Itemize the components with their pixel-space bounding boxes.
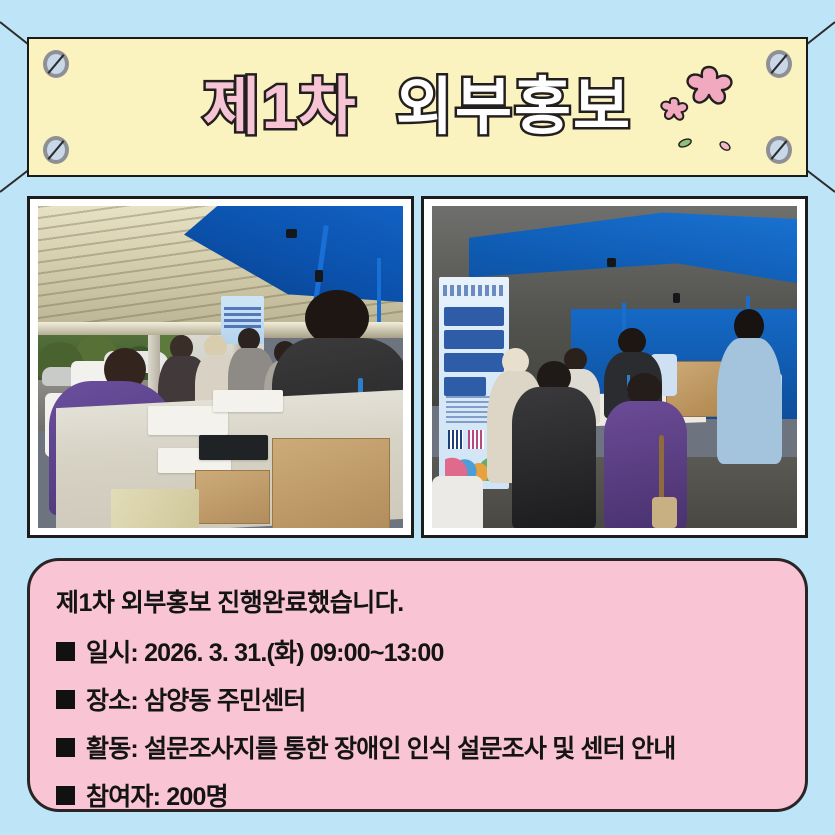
tent-clamp bbox=[286, 229, 297, 239]
poster-root: 제1차 외부홍보 bbox=[0, 0, 835, 835]
tent-clamp bbox=[607, 258, 616, 268]
qr-code bbox=[448, 430, 463, 449]
standee-headline-line bbox=[444, 307, 504, 326]
info-row-date: 일시: 2026. 3. 31.(화) 09:00~13:00 bbox=[56, 633, 779, 669]
info-panel: 제1차 외부홍보 진행완료했습니다. 일시: 2026. 3. 31.(화) 0… bbox=[27, 558, 808, 812]
title-segment-pink: 제1차 bbox=[203, 73, 358, 142]
square-bullet-icon bbox=[56, 738, 75, 757]
info-row-location: 장소: 삼양동 주민센터 bbox=[56, 681, 779, 717]
photo-right bbox=[421, 196, 808, 538]
shoulder-bag bbox=[652, 497, 677, 528]
info-row-activity: 활동: 설문조사지를 통한 장애인 인식 설문조사 및 센터 안내 bbox=[56, 729, 779, 765]
standee-headline-line bbox=[444, 377, 486, 396]
photo-left bbox=[27, 196, 414, 538]
plastic-chair bbox=[432, 476, 483, 528]
info-row-participants-text: 참여자: 200명 bbox=[86, 777, 228, 813]
info-row-participants: 참여자: 200명 bbox=[56, 777, 779, 813]
photo-right-canvas bbox=[432, 206, 797, 528]
tent-clamp bbox=[673, 293, 680, 303]
shoulder-bag-strap bbox=[659, 435, 664, 503]
info-row-date-text: 일시: 2026. 3. 31.(화) 09:00~13:00 bbox=[86, 633, 444, 669]
qr-code bbox=[468, 430, 483, 449]
petal-icon bbox=[717, 139, 733, 153]
promotional-leaflet bbox=[111, 489, 199, 528]
cardboard-box bbox=[272, 438, 391, 528]
participant-black-coat bbox=[512, 361, 596, 528]
leaf-icon bbox=[677, 137, 693, 149]
title-segment-white: 외부홍보 bbox=[396, 73, 632, 142]
participant-purple-coat bbox=[604, 373, 688, 528]
square-bullet-icon bbox=[56, 786, 75, 805]
photo-gallery bbox=[27, 196, 808, 538]
info-row-activity-text: 활동: 설문조사지를 통한 장애인 인식 설문조사 및 센터 안내 bbox=[86, 729, 676, 765]
standee-logo bbox=[443, 285, 504, 296]
square-bullet-icon bbox=[56, 690, 75, 709]
photo-left-canvas bbox=[38, 206, 403, 528]
header-banner: 제1차 외부홍보 bbox=[27, 37, 808, 177]
tent-clamp bbox=[315, 270, 322, 281]
cardboard-box bbox=[195, 470, 270, 524]
clipboard bbox=[199, 435, 268, 461]
square-bullet-icon bbox=[56, 642, 75, 661]
survey-form bbox=[213, 390, 282, 413]
standee-headline-line bbox=[444, 330, 504, 349]
info-row-location-text: 장소: 삼양동 주민센터 bbox=[86, 681, 306, 717]
info-headline: 제1차 외부홍보 진행완료했습니다. bbox=[56, 583, 779, 619]
participant bbox=[717, 309, 783, 464]
